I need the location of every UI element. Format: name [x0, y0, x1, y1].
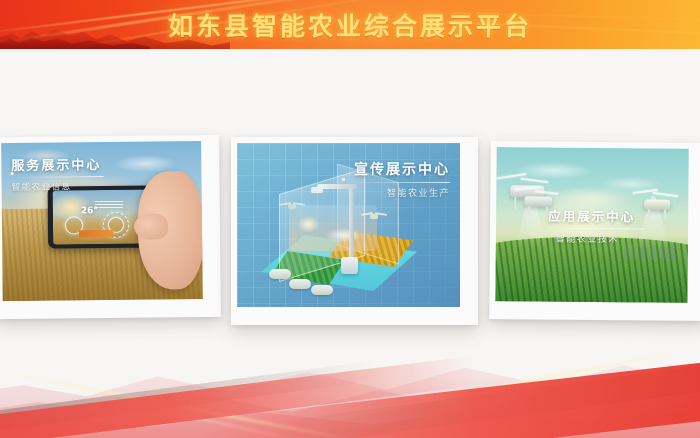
thumb — [134, 213, 168, 239]
drone-leg — [664, 210, 666, 220]
hay-bale — [289, 279, 311, 289]
drone-body — [288, 204, 296, 209]
hay-bale — [311, 285, 333, 295]
card-service-image: 26° 服务展示中心 智能农业信息 — [1, 141, 203, 301]
card-promotion-label: 宣传展示中心 智能农业生产 — [346, 159, 450, 199]
bullet-dot-icon — [342, 178, 345, 181]
card-subtitle: 智能农业生产 — [346, 186, 450, 199]
drone-leg — [514, 197, 516, 209]
drone-body — [370, 214, 378, 219]
card-title: 应用展示中心 — [548, 206, 644, 226]
title-rule — [548, 228, 644, 230]
hay-bale — [269, 269, 291, 279]
lamp-head — [311, 187, 323, 193]
drone-icon — [281, 201, 303, 211]
title-rule — [11, 176, 103, 178]
card-title: 服务展示中心 — [11, 154, 103, 174]
card-title: 宣传展示中心 — [346, 159, 450, 179]
storage-tank — [341, 257, 358, 274]
app-root: 如东县智能农业综合展示平台 26° — [0, 0, 700, 438]
hud-info-chip — [79, 230, 113, 237]
card-subtitle: 智能农业信息 — [12, 180, 104, 193]
card-service-label: 服务展示中心 智能农业信息 — [11, 154, 103, 193]
card-application-label: 应用展示中心 智能农业技术 — [548, 206, 644, 246]
card-promotion-display-center[interactable]: 宣传展示中心 智能农业生产 — [231, 137, 478, 325]
card-promotion-image: 宣传展示中心 智能农业生产 — [237, 143, 460, 307]
temperature-readout: 26° — [81, 206, 98, 216]
drone-icon — [363, 211, 385, 221]
title-rule — [346, 182, 450, 183]
header-banner: 如东县智能农业综合展示平台 — [0, 0, 700, 49]
drone-leg — [648, 209, 650, 219]
card-application-image: 应用展示中心 智能农业技术 — [495, 147, 688, 303]
drone-leg — [528, 206, 530, 216]
card-application-display-center[interactable]: 应用展示中心 智能农业技术 — [489, 141, 700, 321]
hud-data-bars — [95, 201, 123, 209]
card-service-display-center[interactable]: 26° 服务展示中心 智能农业信息 — [0, 135, 221, 319]
drone-body — [644, 199, 670, 209]
card-subtitle: 智能农业技术 — [556, 232, 644, 246]
bullet-dot-icon — [10, 172, 13, 175]
page-title: 如东县智能农业综合展示平台 — [0, 0, 700, 49]
